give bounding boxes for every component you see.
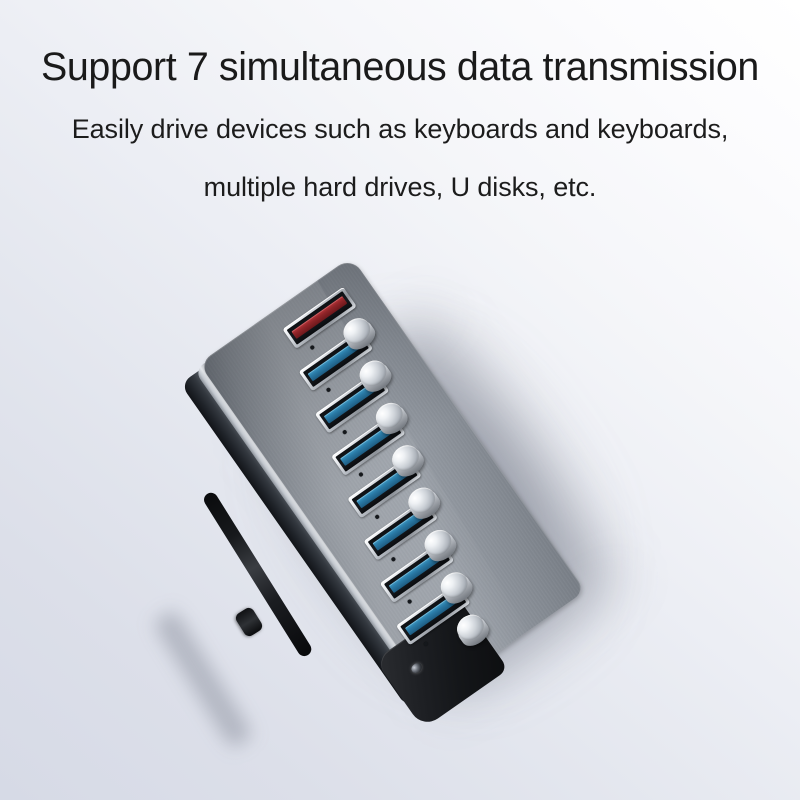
cable-shadow: [152, 609, 254, 750]
cable-strain-relief: [234, 606, 265, 639]
subtitle-line-2: multiple hard drives, U disks, etc.: [0, 170, 800, 204]
product-banner: Support 7 simultaneous data transmission…: [0, 0, 800, 800]
led-indicator-icon: [409, 661, 423, 675]
page-title: Support 7 simultaneous data transmission: [6, 44, 794, 90]
subtitle-line-1: Easily drive devices such as keyboards a…: [0, 112, 800, 146]
